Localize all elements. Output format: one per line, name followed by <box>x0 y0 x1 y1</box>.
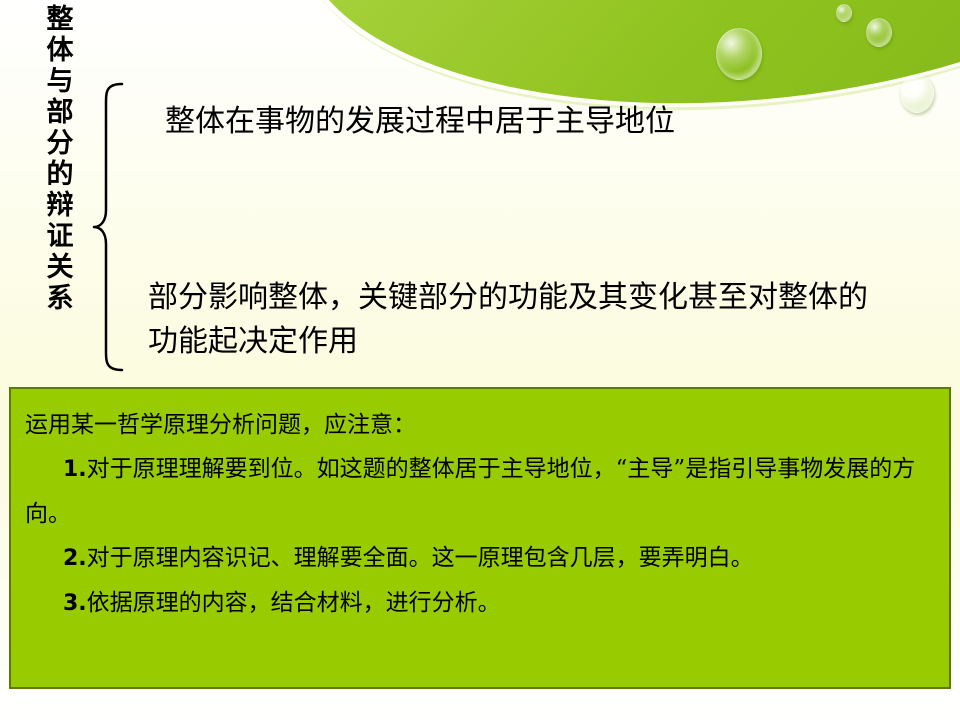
note-item-1-text: 对于原理理解要到位。如这题的整体居于主导地位，“主导”是指引导事物发展的方向。 <box>25 456 915 527</box>
vertical-title-char: 体 <box>38 35 82 66</box>
note-item-2: 2.对于原理内容识记、理解要全面。这一原理包含几层，要弄明白。 <box>25 536 933 581</box>
vertical-title-char: 关 <box>38 252 82 283</box>
note-item-3: 3.依据原理的内容，结合材料，进行分析。 <box>25 581 933 626</box>
water-droplet-icon <box>836 4 852 22</box>
vertical-title-char: 的 <box>38 159 82 190</box>
vertical-title-char: 分 <box>38 128 82 159</box>
note-item-2-text: 对于原理内容识记、理解要全面。这一原理包含几层，要弄明白。 <box>87 545 754 571</box>
note-item-3-number: 3. <box>63 591 87 616</box>
note-item-1: 1.对于原理理解要到位。如这题的整体居于主导地位，“主导”是指引导事物发展的方向… <box>25 447 933 536</box>
statement-whole-leading: 整体在事物的发展过程中居于主导地位 <box>165 100 865 144</box>
statement-part-affects-whole: 部分影响整体，关键部分的功能及其变化甚至对整体的功能起决定作用 <box>148 276 878 364</box>
water-droplet-icon <box>866 18 892 47</box>
note-box: 运用某一哲学原理分析问题，应注意： 1.对于原理理解要到位。如这题的整体居于主导… <box>9 387 951 689</box>
slide-canvas: 整 体 与 部 分 的 辩 证 关 系 整体在事物的发展过程中居于主导地位 部分… <box>0 0 960 720</box>
vertical-title: 整 体 与 部 分 的 辩 证 关 系 <box>38 4 82 314</box>
water-droplet-icon <box>900 74 934 113</box>
vertical-title-char: 部 <box>38 97 82 128</box>
note-item-2-number: 2. <box>63 546 87 571</box>
left-curly-brace-icon <box>92 82 126 372</box>
note-item-1-number: 1. <box>63 457 87 482</box>
water-droplet-icon <box>716 28 762 80</box>
note-heading: 运用某一哲学原理分析问题，应注意： <box>25 403 933 447</box>
vertical-title-char: 整 <box>38 4 82 35</box>
note-item-3-text: 依据原理的内容，结合材料，进行分析。 <box>87 590 501 616</box>
vertical-title-char: 证 <box>38 221 82 252</box>
vertical-title-char: 系 <box>38 283 82 314</box>
vertical-title-char: 与 <box>38 66 82 97</box>
vertical-title-char: 辩 <box>38 190 82 221</box>
